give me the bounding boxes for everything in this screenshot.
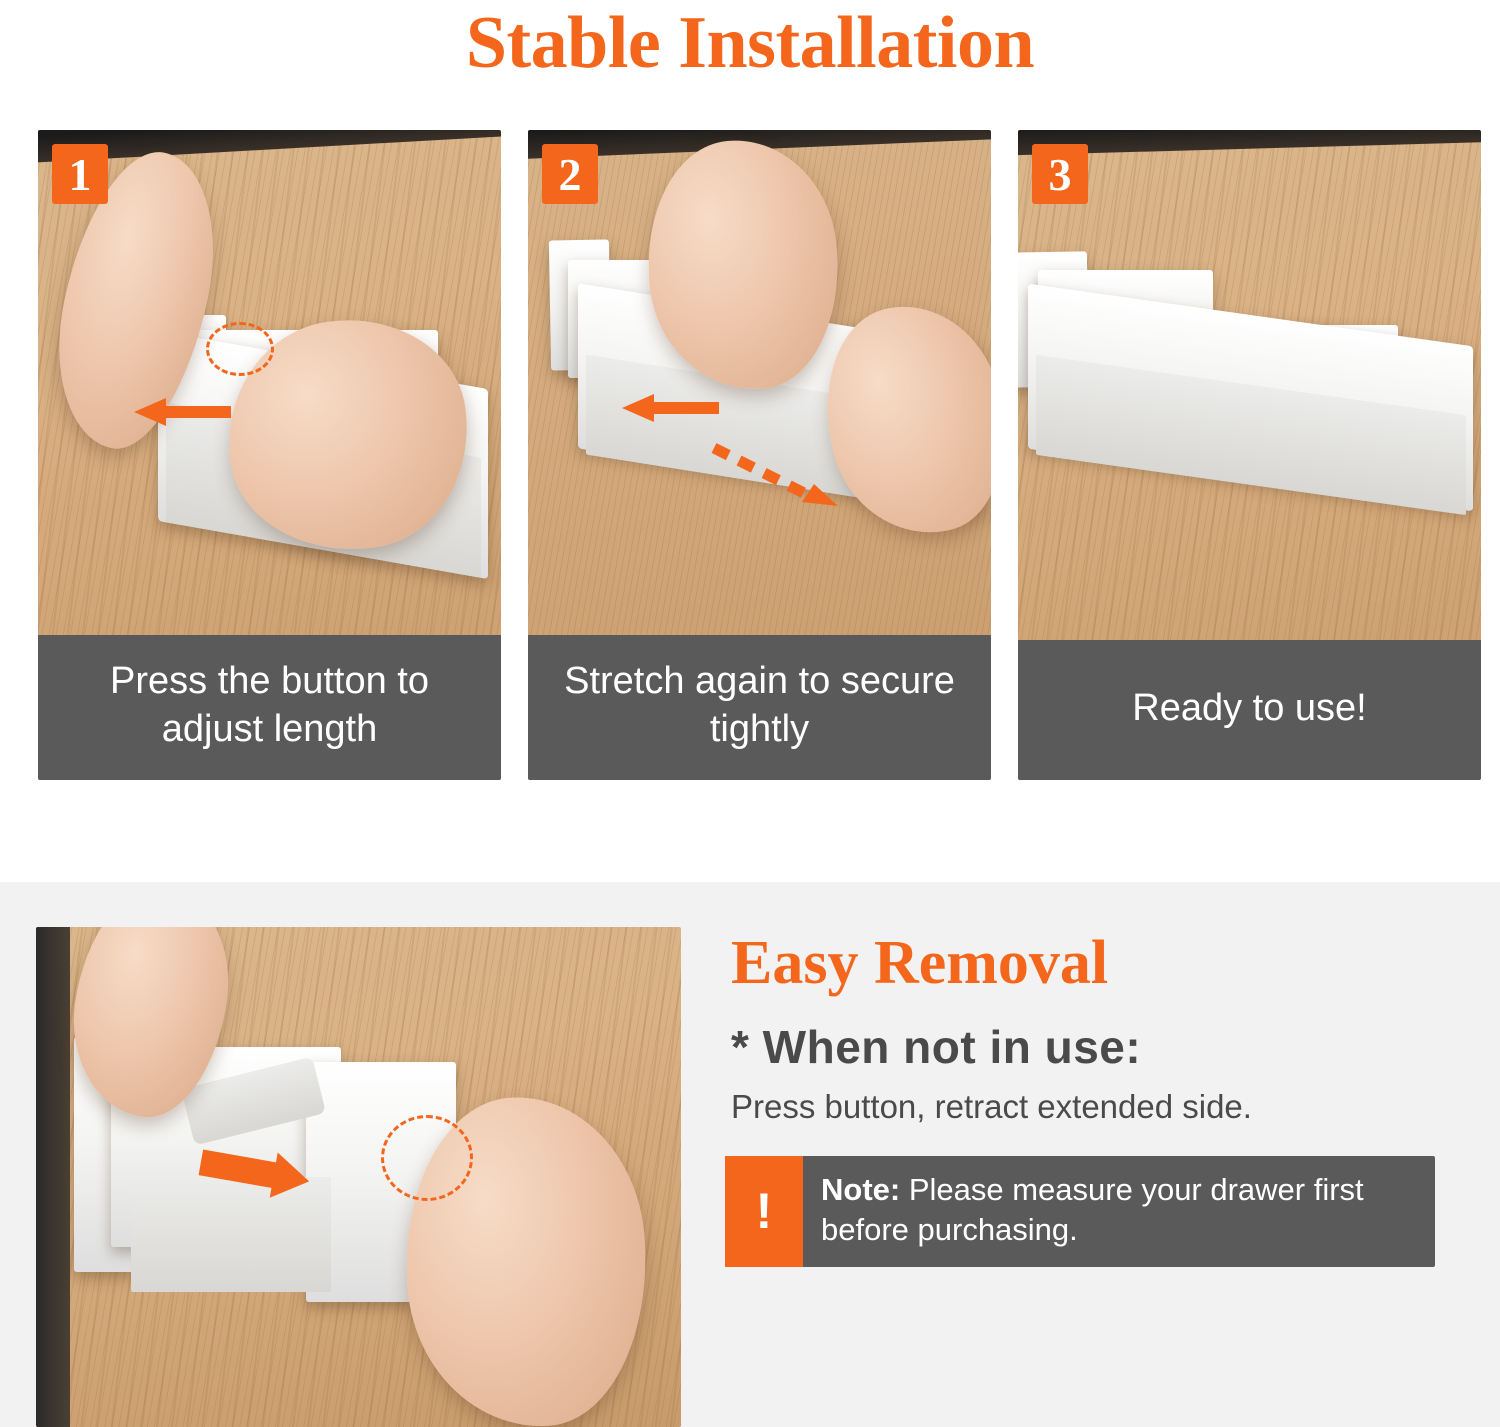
step-card-2: 2 Stretch again to secure tightly bbox=[528, 130, 991, 780]
step-caption-2: Stretch again to secure tightly bbox=[528, 635, 991, 780]
step-caption-3: Ready to use! bbox=[1018, 640, 1481, 780]
section-divider bbox=[0, 850, 1500, 882]
note-text: Note: Please measure your drawer first b… bbox=[803, 1156, 1435, 1267]
easy-removal-description: Press button, retract extended side. bbox=[731, 1088, 1465, 1126]
step-card-3: 3 Ready to use! bbox=[1018, 130, 1481, 780]
step-caption-1: Press the button to adjust length bbox=[38, 635, 501, 780]
button-highlight-circle bbox=[206, 322, 274, 376]
step-badge-3: 3 bbox=[1032, 144, 1088, 204]
arrow-left-icon bbox=[614, 388, 724, 428]
easy-removal-photo bbox=[36, 927, 681, 1427]
step-badge-1: 1 bbox=[52, 144, 108, 204]
arrow-right-dashed-icon bbox=[710, 440, 845, 510]
step-badge-2: 2 bbox=[542, 144, 598, 204]
easy-removal-text-block: Easy Removal * When not in use: Press bu… bbox=[725, 932, 1465, 1267]
page-title: Stable Installation bbox=[0, 0, 1500, 80]
easy-removal-section: Easy Removal * When not in use: Press bu… bbox=[0, 882, 1500, 1427]
easy-removal-title: Easy Removal bbox=[731, 932, 1465, 994]
note-body: Please measure your drawer first before … bbox=[821, 1172, 1364, 1247]
arrow-right-icon bbox=[196, 1145, 316, 1200]
button-highlight-circle bbox=[381, 1115, 473, 1201]
step-card-1: 1 Press the button to adjust length bbox=[38, 130, 501, 780]
exclamation-icon: ! bbox=[725, 1156, 803, 1267]
steps-row: 1 Press the button to adjust length bbox=[38, 130, 1481, 780]
stable-installation-section: Stable Installation 1 Press the button t… bbox=[0, 0, 1500, 850]
drawer-side-wall bbox=[36, 927, 70, 1427]
arrow-left-icon bbox=[126, 392, 236, 432]
easy-removal-subtitle: * When not in use: bbox=[731, 1020, 1465, 1074]
note-label: Note: bbox=[821, 1172, 900, 1207]
note-box: ! Note: Please measure your drawer first… bbox=[725, 1156, 1435, 1267]
